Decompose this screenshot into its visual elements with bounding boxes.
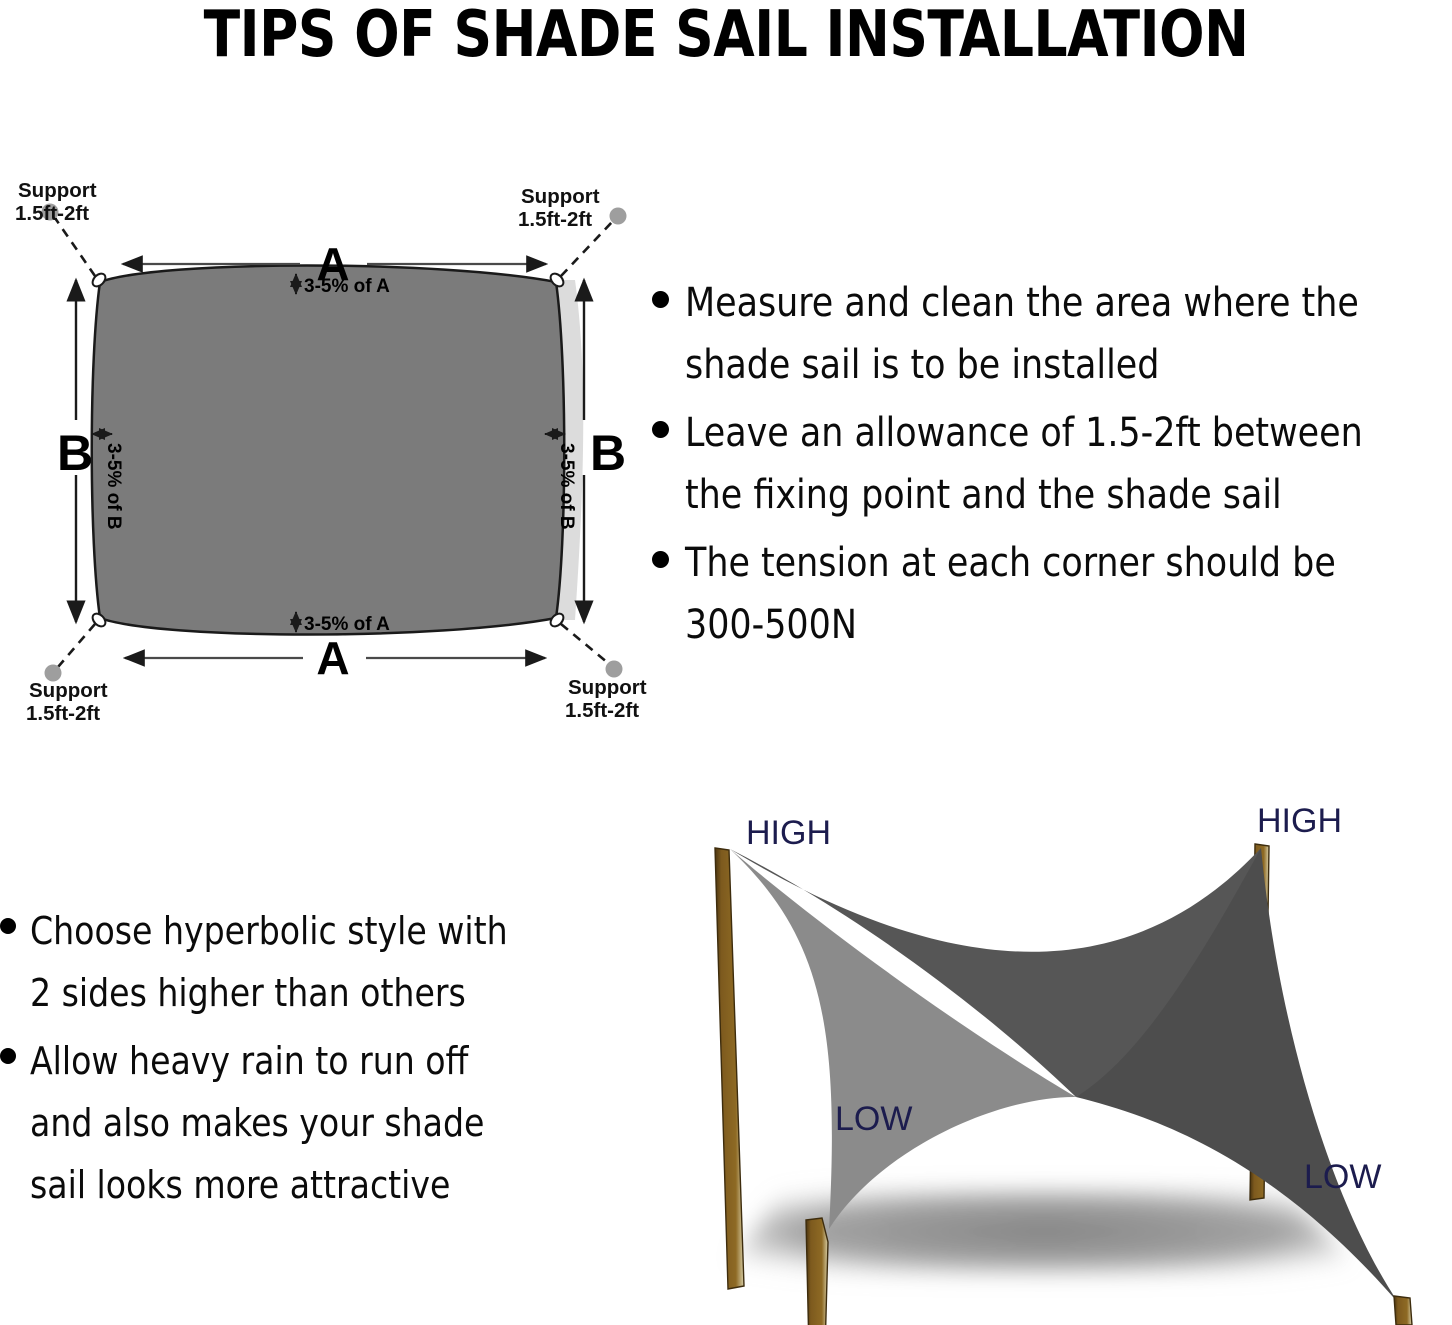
list-item-line: sail looks more attractive xyxy=(30,1163,450,1207)
support-label-top-right-line1: Support xyxy=(521,185,600,208)
support-label-bottom-right-line2: 1.5ft-2ft xyxy=(565,699,639,722)
list-item-line: 300-500N xyxy=(685,602,857,648)
hyperbolic-tips-list: Choose hyperbolic style with 2 sides hig… xyxy=(0,900,620,1222)
support-label-bottom-right-line1: Support xyxy=(568,676,647,699)
list-item-line: Leave an allowance of 1.5-2ft between xyxy=(685,410,1363,456)
label-high-right: HIGH xyxy=(1257,802,1342,840)
list-item: Leave an allowance of 1.5-2ft between th… xyxy=(652,402,1452,526)
support-label-top-right-line2: 1.5ft-2ft xyxy=(518,208,592,231)
curve-callout-top: 3-5% of A xyxy=(296,274,390,297)
label-high-left: HIGH xyxy=(746,814,831,852)
list-item-line: and also makes your shade xyxy=(30,1101,484,1145)
support-label-bottom-left-line1: Support xyxy=(29,679,108,702)
post-high-left xyxy=(715,848,744,1289)
anchor-dot-bottom-right xyxy=(606,661,623,678)
label-low-right: LOW xyxy=(1304,1158,1381,1196)
list-item-line: the fixing point and the shade sail xyxy=(685,472,1282,518)
list-item: Measure and clean the area where the sha… xyxy=(652,272,1452,396)
bullet-dot-icon xyxy=(652,291,669,308)
list-item-line: Allow heavy rain to run off xyxy=(30,1039,468,1083)
list-item-text: The tension at each corner should be 300… xyxy=(685,532,1336,656)
support-label-top-left-line1: Support xyxy=(18,179,97,202)
post-low-right xyxy=(1394,1296,1412,1325)
bullet-dot-icon xyxy=(0,918,16,934)
list-item: Allow heavy rain to run off and also mak… xyxy=(0,1030,620,1216)
anchor-dot-top-right xyxy=(610,208,627,225)
dimension-label-B-left: B xyxy=(57,425,93,481)
list-item-line: Choose hyperbolic style with xyxy=(30,909,508,953)
rect-sail-diagram: Support 1.5ft-2ft Support 1.5ft-2ft Supp… xyxy=(0,160,660,740)
dimension-label-B-right: B xyxy=(590,425,626,481)
curve-label-left: 3-5% of B xyxy=(103,443,124,530)
hyperbolic-sail-diagram: HIGH HIGH LOW LOW xyxy=(672,786,1452,1325)
list-item-line: The tension at each corner should be xyxy=(685,540,1336,586)
list-item-text: Choose hyperbolic style with 2 sides hig… xyxy=(30,900,508,1024)
list-item-line: shade sail is to be installed xyxy=(685,342,1159,388)
dimension-label-A-bottom: A xyxy=(316,632,349,684)
infographic-page: TIPS OF SHADE SAIL INSTALLATION xyxy=(0,0,1452,1325)
installation-tips-list: Measure and clean the area where the sha… xyxy=(652,272,1452,662)
label-low-left: LOW xyxy=(835,1100,912,1138)
bullet-dot-icon xyxy=(652,551,669,568)
curve-label-bottom: 3-5% of A xyxy=(304,614,390,635)
list-item-line: 2 sides higher than others xyxy=(30,971,466,1015)
list-item-text: Allow heavy rain to run off and also mak… xyxy=(30,1030,484,1216)
list-item: Choose hyperbolic style with 2 sides hig… xyxy=(0,900,620,1024)
support-label-bottom-left-line2: 1.5ft-2ft xyxy=(26,702,100,725)
dimension-A-bottom: A xyxy=(125,632,545,684)
dimension-B-left: B xyxy=(57,280,93,622)
support-label-top-left-line2: 1.5ft-2ft xyxy=(15,202,89,225)
list-item: The tension at each corner should be 300… xyxy=(652,532,1452,656)
curve-label-right: 3-5% of B xyxy=(556,443,577,530)
page-title: TIPS OF SHADE SAIL INSTALLATION xyxy=(51,0,1401,70)
list-item-line: Measure and clean the area where the xyxy=(685,280,1359,326)
bullet-dot-icon xyxy=(0,1048,16,1064)
list-item-text: Leave an allowance of 1.5-2ft between th… xyxy=(685,402,1363,526)
dimension-B-right: B xyxy=(584,280,626,622)
sail-body xyxy=(92,266,565,635)
post-low-left xyxy=(806,1218,828,1325)
curve-callout-bottom: 3-5% of A xyxy=(296,612,390,635)
curve-label-top: 3-5% of A xyxy=(304,276,390,297)
bullet-dot-icon xyxy=(652,421,669,438)
list-item-text: Measure and clean the area where the sha… xyxy=(685,272,1359,396)
